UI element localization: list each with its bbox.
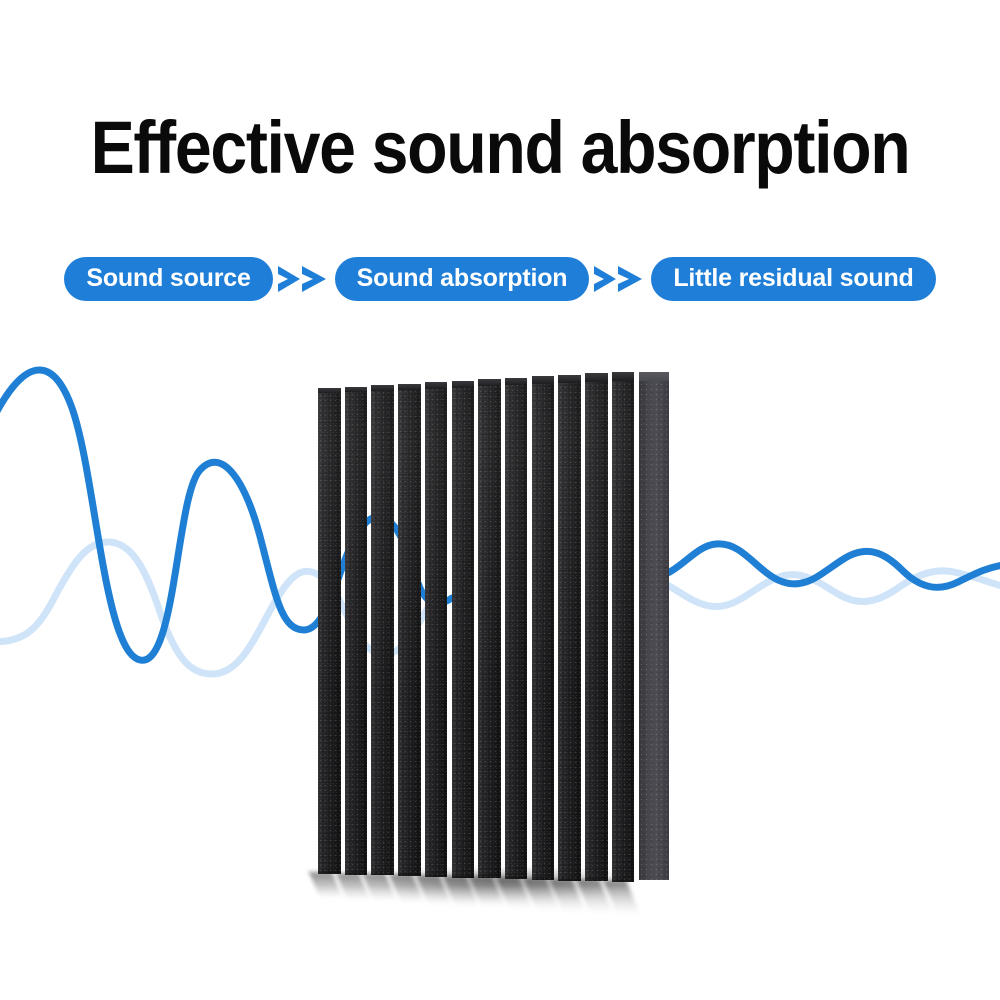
product-illustration	[0, 330, 1000, 930]
foam-texture	[345, 387, 368, 875]
foam-texture	[425, 382, 448, 877]
badge-sound-absorption-label: Sound absorption	[357, 266, 568, 291]
foam-ridge-top	[371, 385, 394, 391]
badge-sound-absorption: Sound absorption	[335, 257, 590, 301]
foam-ridge-top	[558, 375, 581, 383]
double-chevron-right-icon	[273, 257, 335, 301]
foam-ridge-group	[318, 372, 654, 882]
foam-texture	[398, 384, 421, 877]
foam-texture	[612, 372, 635, 882]
acoustic-foam-panel	[0, 330, 1000, 930]
badge-little-residual-sound-label: Little residual sound	[673, 266, 913, 291]
foam-texture	[532, 376, 555, 879]
badge-sound-source-label: Sound source	[86, 266, 250, 291]
foam-ridge-top	[452, 381, 475, 388]
foam-texture	[478, 379, 501, 878]
foam-texture	[639, 372, 669, 880]
foam-ridge	[452, 381, 475, 878]
badge-little-residual-sound: Little residual sound	[651, 257, 935, 301]
double-chevron-right-icon-2	[589, 257, 651, 301]
foam-ridge	[425, 382, 448, 877]
foam-ridge	[318, 388, 341, 874]
foam-ridge-top	[505, 378, 528, 386]
infographic-canvas: Effective sound absorption Sound source …	[0, 0, 1000, 1000]
foam-ridge	[532, 376, 555, 879]
foam-ridge-top	[318, 388, 341, 393]
foam-ridge	[398, 384, 421, 877]
badge-sound-source: Sound source	[64, 257, 272, 301]
foam-panel-side-top	[639, 372, 669, 381]
foam-texture	[505, 378, 528, 879]
foam-texture	[585, 373, 608, 881]
page-title: Effective sound absorption	[53, 108, 948, 188]
foam-texture	[318, 388, 341, 874]
foam-ridge	[371, 385, 394, 875]
foam-texture	[558, 375, 581, 881]
foam-ridge-top	[478, 379, 501, 386]
foam-ridge	[345, 387, 368, 875]
foam-ridge	[505, 378, 528, 879]
foam-ridge-top	[345, 387, 368, 392]
foam-ridge-top	[585, 373, 608, 382]
foam-texture	[452, 381, 475, 878]
foam-texture	[371, 385, 394, 875]
absorption-flow-steps: Sound source Sound absorption Little res…	[0, 256, 1000, 302]
foam-ridge-top	[612, 372, 635, 381]
foam-ridge-top	[425, 382, 448, 388]
foam-panel-side-face	[639, 372, 669, 880]
floor-fade	[280, 886, 720, 944]
foam-ridge-top	[532, 376, 555, 384]
foam-ridge-top	[398, 384, 421, 390]
foam-ridge	[558, 375, 581, 881]
foam-ridge	[612, 372, 635, 882]
foam-ridge	[478, 379, 501, 878]
foam-ridge	[585, 373, 608, 881]
